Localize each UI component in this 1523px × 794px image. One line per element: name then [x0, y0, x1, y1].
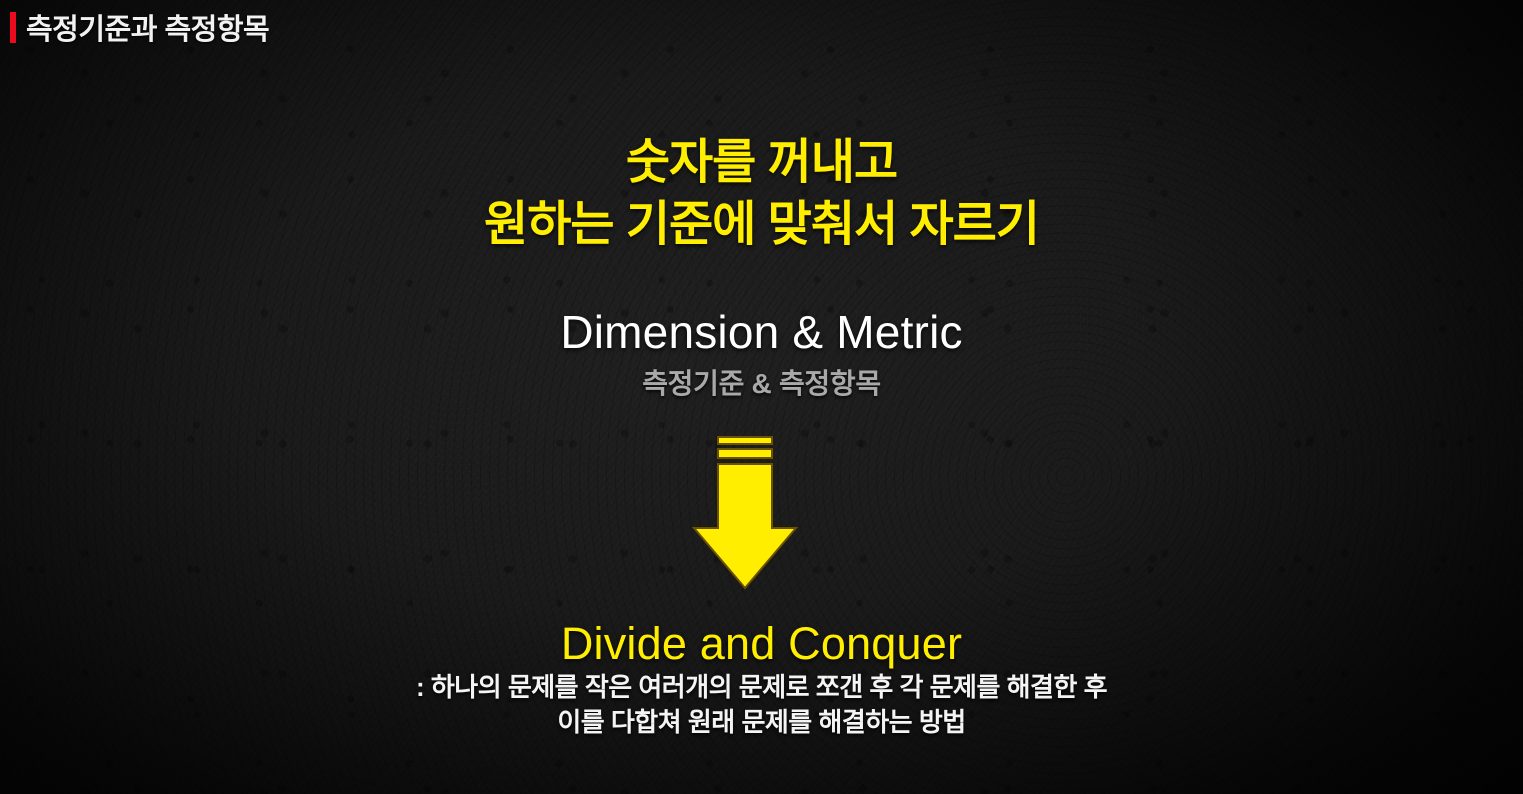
- slide-content: 숫자를 꺼내고 원하는 기준에 맞춰서 자르기 Dimension & Metr…: [0, 0, 1523, 794]
- concept-description-line-2: 이를 다합쳐 원래 문제를 해결하는 방법: [0, 705, 1523, 740]
- headline-line-2: 원하는 기준에 맞춰서 자르기: [0, 194, 1523, 256]
- concept-description-line-1: : 하나의 문제를 작은 여러개의 문제로 쪼갠 후 각 문제를 해결한 후: [416, 672, 1107, 702]
- concept-title: Divide and Conquer: [0, 618, 1523, 670]
- term-english: Dimension & Metric: [0, 305, 1523, 359]
- down-arrow-icon: [690, 436, 800, 592]
- term-korean: 측정기준 & 측정항목: [0, 362, 1523, 402]
- down-arrow-graphic: [690, 436, 800, 592]
- presentation-slide: 측정기준과 측정항목 숫자를 꺼내고 원하는 기준에 맞춰서 자르기 Dimen…: [0, 0, 1523, 794]
- headline-block: 숫자를 꺼내고 원하는 기준에 맞춰서 자르기: [0, 132, 1523, 257]
- headline-line-1: 숫자를 꺼내고: [626, 136, 897, 189]
- concept-description: : 하나의 문제를 작은 여러개의 문제로 쪼갠 후 각 문제를 해결한 후 이…: [0, 670, 1523, 740]
